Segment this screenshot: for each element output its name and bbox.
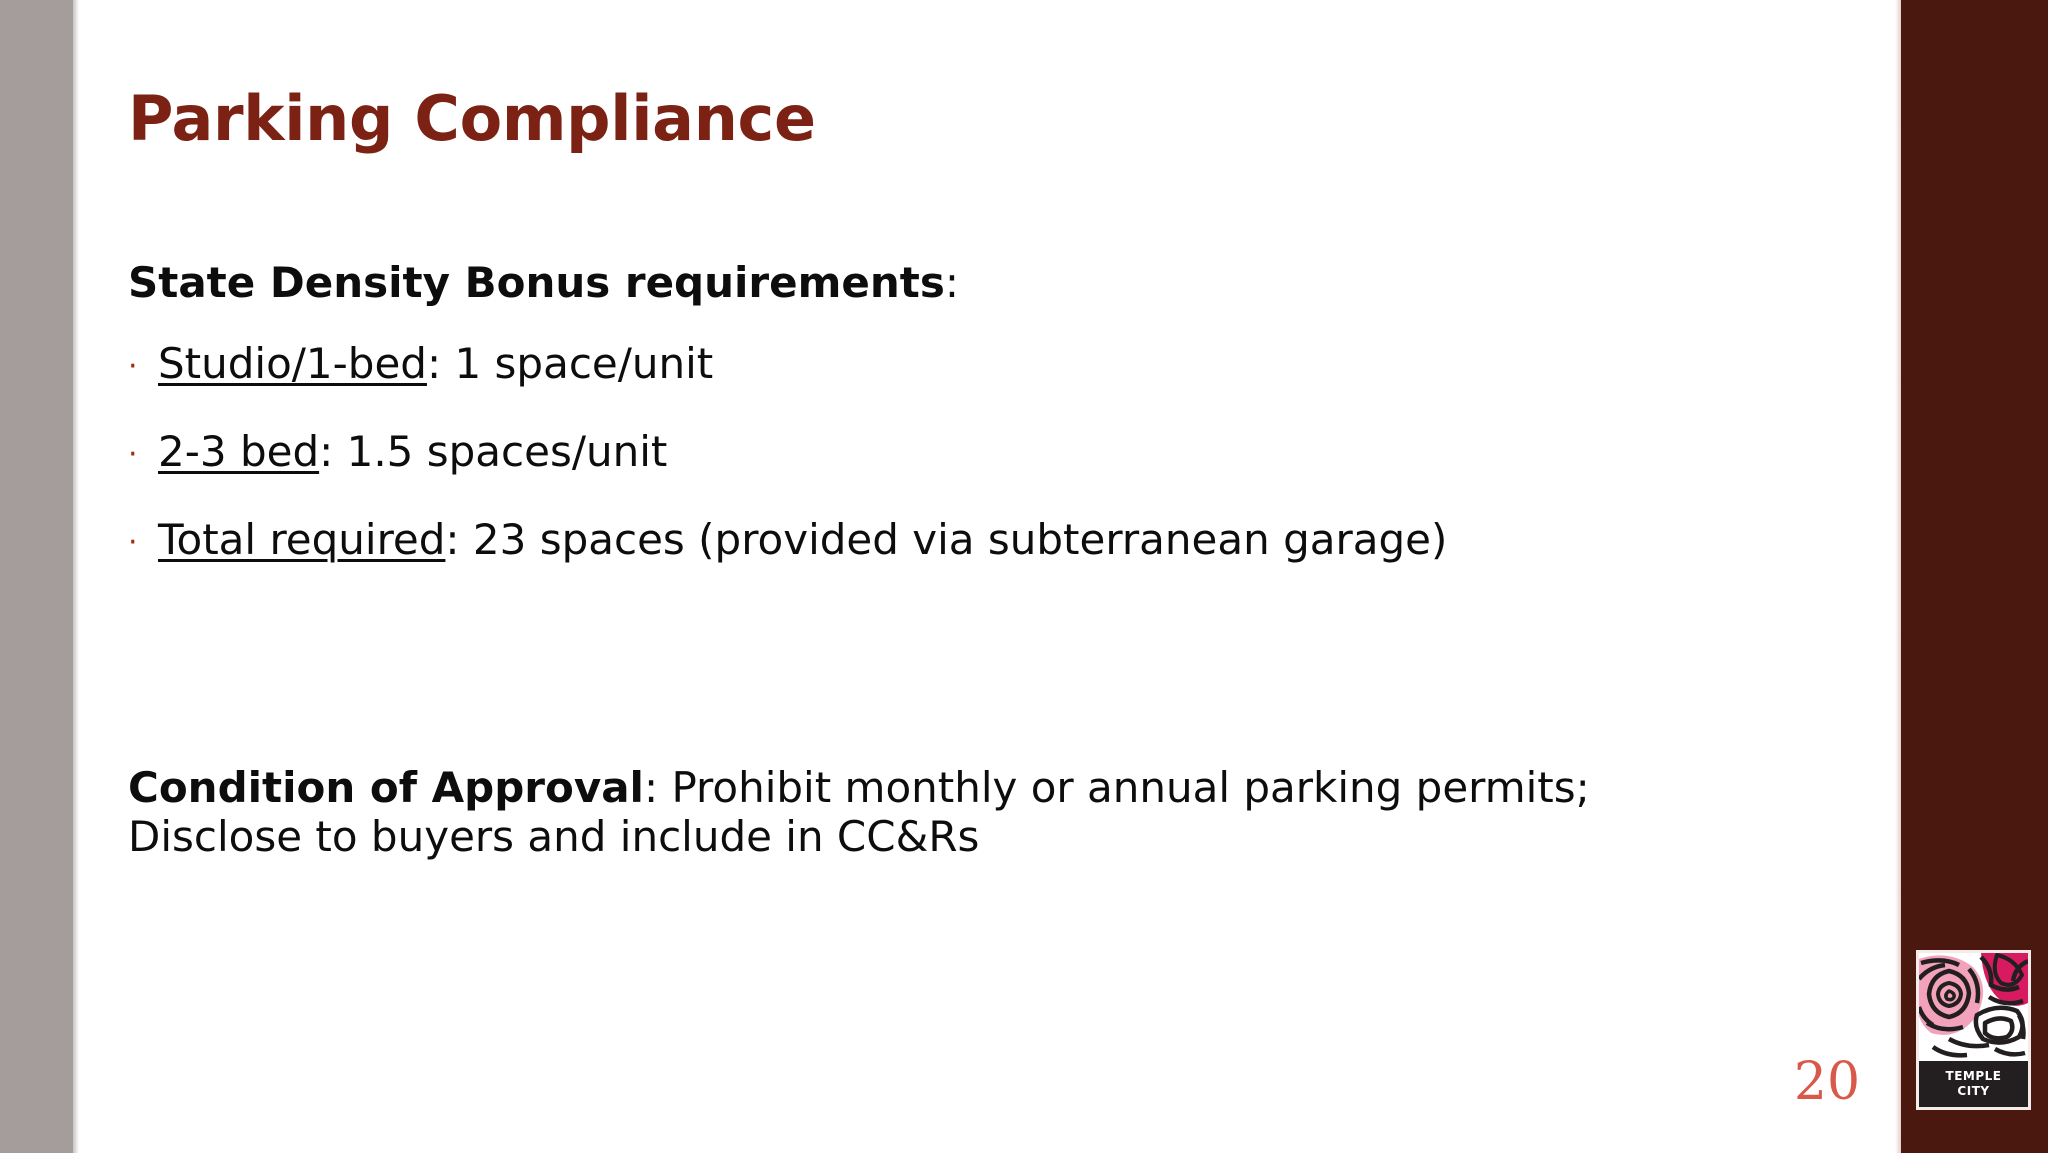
lead-statement-bold: State Density Bonus requirements	[128, 258, 945, 307]
page-number: 20	[1782, 1056, 1872, 1108]
list-item-value: : 1.5 spaces/unit	[319, 427, 667, 476]
lead-statement-tail: :	[945, 258, 959, 307]
lead-statement: State Density Bonus requirements:	[128, 262, 1848, 304]
list-item: · Studio/1-bed: 1 space/unit	[128, 342, 1848, 386]
logo-wordmark: TEMPLE CITY	[1919, 1061, 2028, 1107]
logo-wordmark-line1: TEMPLE	[1946, 1069, 2002, 1084]
bullet-dot-icon: ·	[128, 440, 158, 470]
logo-wordmark-line2: CITY	[1957, 1084, 1989, 1099]
slide-body: State Density Bonus requirements: · Stud…	[128, 262, 1848, 562]
left-band-edge	[73, 0, 79, 1153]
list-item-term: 2-3 bed	[158, 427, 319, 476]
bullet-dot-icon: ·	[128, 528, 158, 558]
rose-icon	[1919, 953, 2028, 1061]
page-title: Parking Compliance	[128, 86, 816, 153]
list-item: · Total required: 23 spaces (provided vi…	[128, 518, 1848, 562]
slide-canvas: Parking Compliance State Density Bonus r…	[0, 0, 2048, 1153]
list-item-term: Total required	[158, 515, 445, 564]
list-item-text: 2-3 bed: 1.5 spaces/unit	[158, 430, 667, 474]
condition-of-approval: Condition of Approval: Prohibit monthly …	[128, 764, 1768, 861]
temple-city-logo: TEMPLE CITY	[1916, 950, 2031, 1110]
list-item: · 2-3 bed: 1.5 spaces/unit	[128, 430, 1848, 474]
list-item-value: : 1 space/unit	[427, 339, 713, 388]
list-item-value: : 23 spaces (provided via subterranean g…	[445, 515, 1447, 564]
left-decorative-band	[0, 0, 73, 1153]
list-item-text: Studio/1-bed: 1 space/unit	[158, 342, 713, 386]
list-item-text: Total required: 23 spaces (provided via …	[158, 518, 1447, 562]
list-item-term: Studio/1-bed	[158, 339, 427, 388]
bullet-dot-icon: ·	[128, 352, 158, 382]
condition-of-approval-label: Condition of Approval	[128, 763, 644, 812]
